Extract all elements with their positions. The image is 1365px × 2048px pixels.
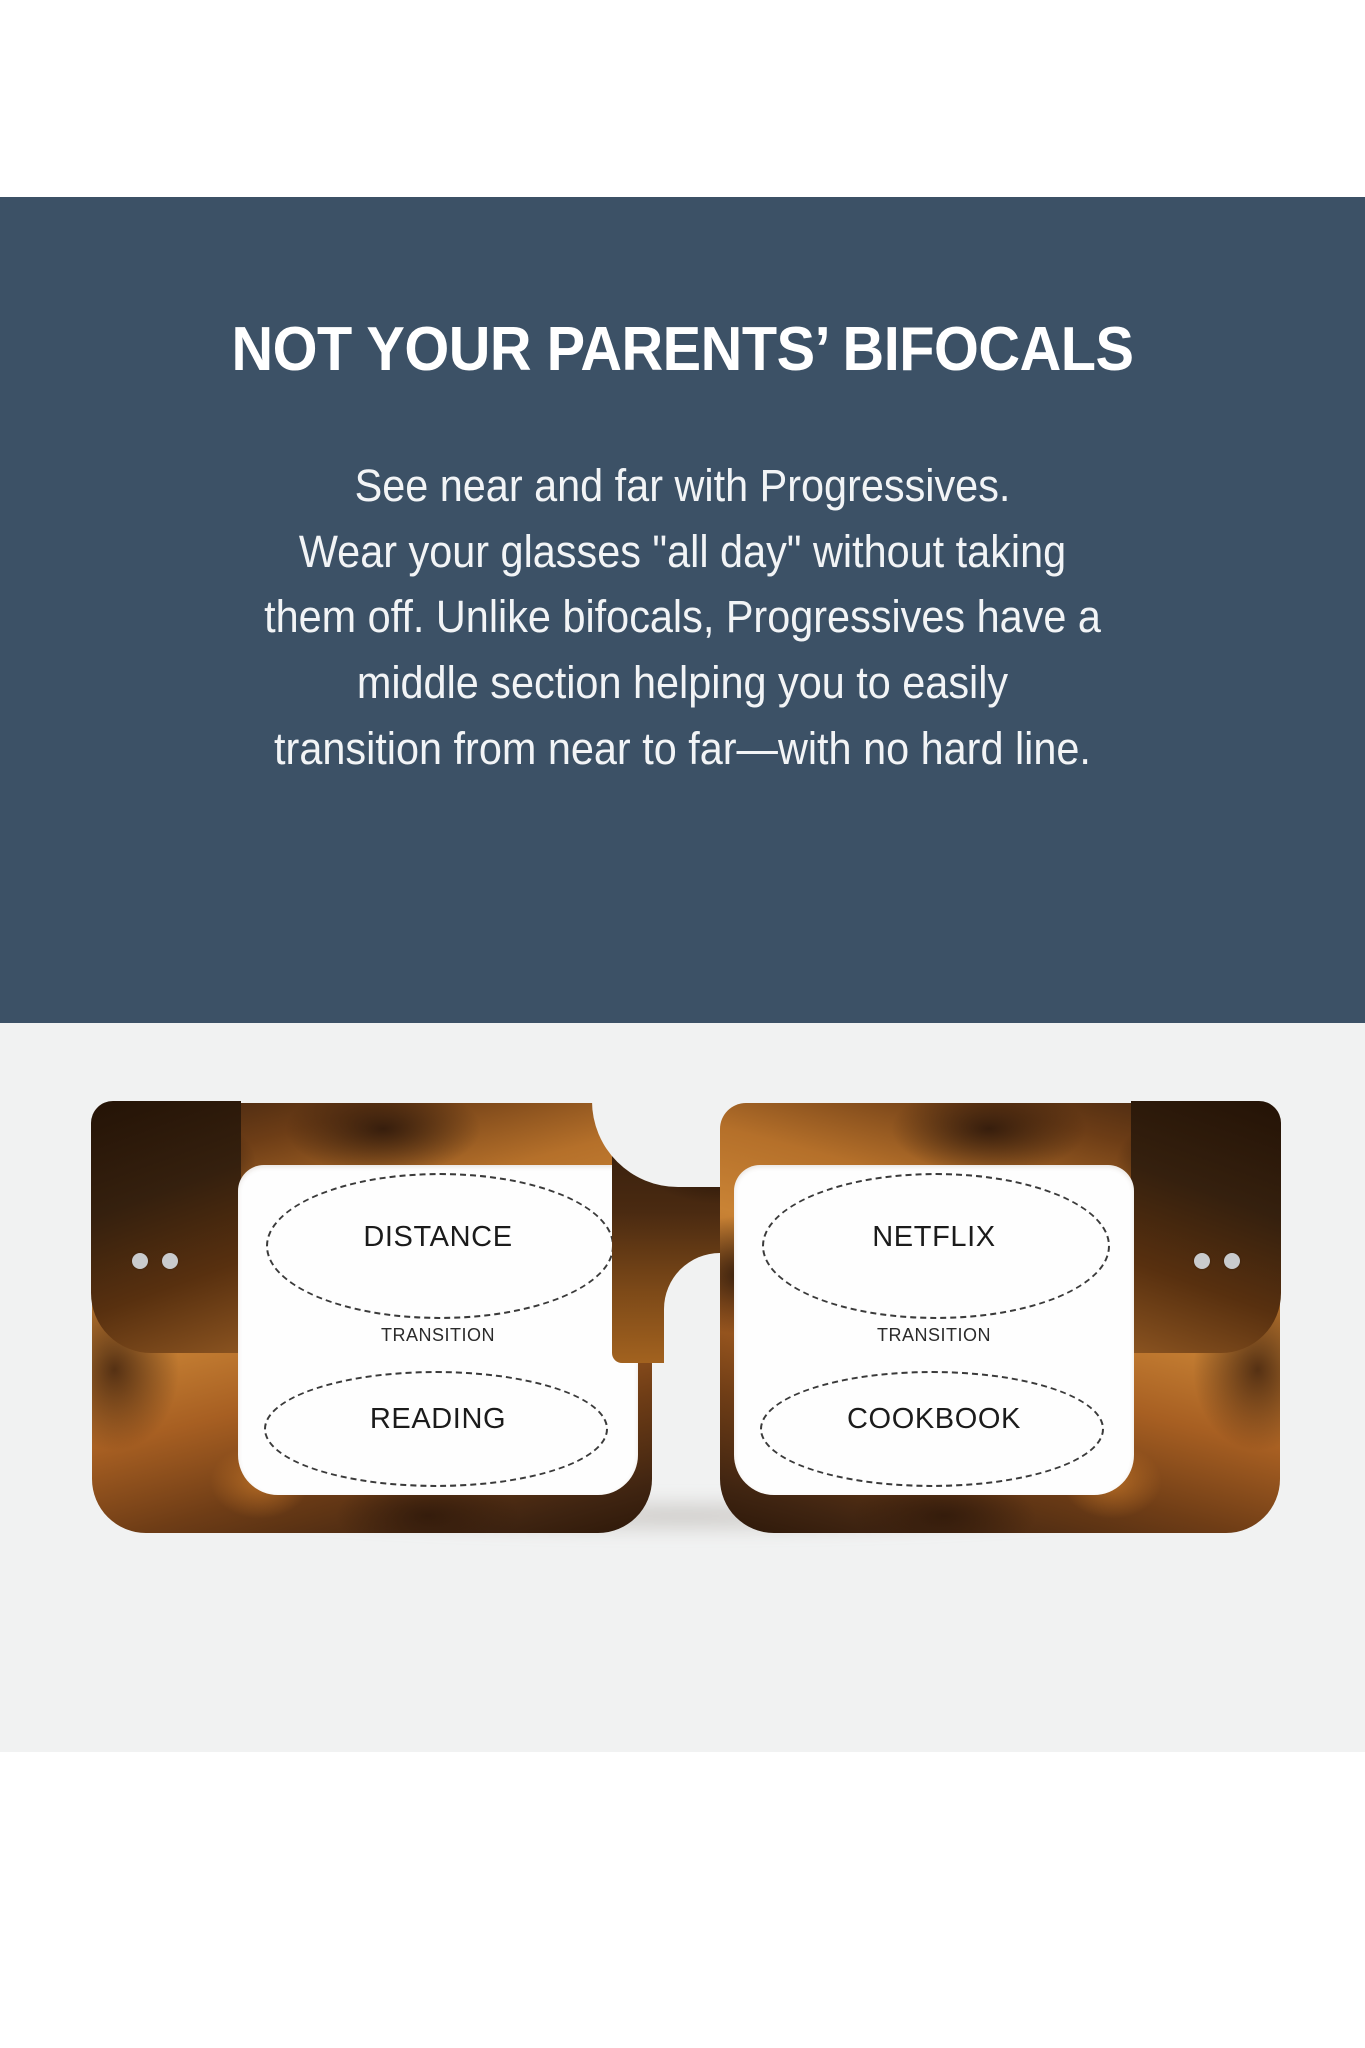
frame-bottom-mask [92, 1533, 1280, 1573]
left-rivets [132, 1253, 178, 1269]
glasses-stage: DISTANCE TRANSITION READING [0, 1023, 1365, 1752]
rivet-icon [162, 1253, 178, 1269]
right-lens: NETFLIX TRANSITION COOKBOOK [734, 1165, 1134, 1495]
promo-body-line-5: transition from near to far—with no hard… [142, 716, 1223, 782]
promo-body-text: See near and far with Progressives. Wear… [142, 381, 1223, 781]
promo-panel: NOT YOUR PARENTS’ BIFOCALS See near and … [0, 197, 1365, 1023]
left-endpiece [91, 1101, 241, 1353]
right-lens-bottom-zone-label: COOKBOOK [734, 1403, 1134, 1436]
left-lens-bottom-zone-label: READING [238, 1403, 638, 1436]
left-lens-top-zone-label: DISTANCE [238, 1221, 638, 1254]
right-lens-middle-zone-label: TRANSITION [734, 1325, 1134, 1346]
right-endpiece [1131, 1101, 1281, 1353]
bottom-white-spacer [0, 1752, 1365, 2048]
rivet-icon [1194, 1253, 1210, 1269]
right-eye-assembly: NETFLIX TRANSITION COOKBOOK [720, 1103, 1280, 1533]
promo-body-line-4: middle section helping you to easily [142, 650, 1223, 716]
promo-body-line-2: Wear your glasses "all day" without taki… [142, 519, 1223, 585]
top-white-spacer [0, 0, 1365, 197]
rivet-icon [132, 1253, 148, 1269]
promo-body-line-1: See near and far with Progressives. [142, 453, 1223, 519]
glasses-image-panel: DISTANCE TRANSITION READING [0, 1023, 1365, 1752]
rivet-icon [1224, 1253, 1240, 1269]
left-lens: DISTANCE TRANSITION READING [238, 1165, 638, 1495]
promo-page: NOT YOUR PARENTS’ BIFOCALS See near and … [0, 0, 1365, 2048]
promo-body-line-3: them off. Unlike bifocals, Progressives … [142, 584, 1223, 650]
right-rivets [1194, 1253, 1240, 1269]
left-eye-assembly: DISTANCE TRANSITION READING [92, 1103, 652, 1533]
eyeglasses-illustration: DISTANCE TRANSITION READING [92, 1103, 1280, 1533]
left-lens-middle-zone-label: TRANSITION [238, 1325, 638, 1346]
page-title: NOT YOUR PARENTS’ BIFOCALS [136, 197, 1229, 381]
right-lens-top-zone-label: NETFLIX [734, 1221, 1134, 1254]
